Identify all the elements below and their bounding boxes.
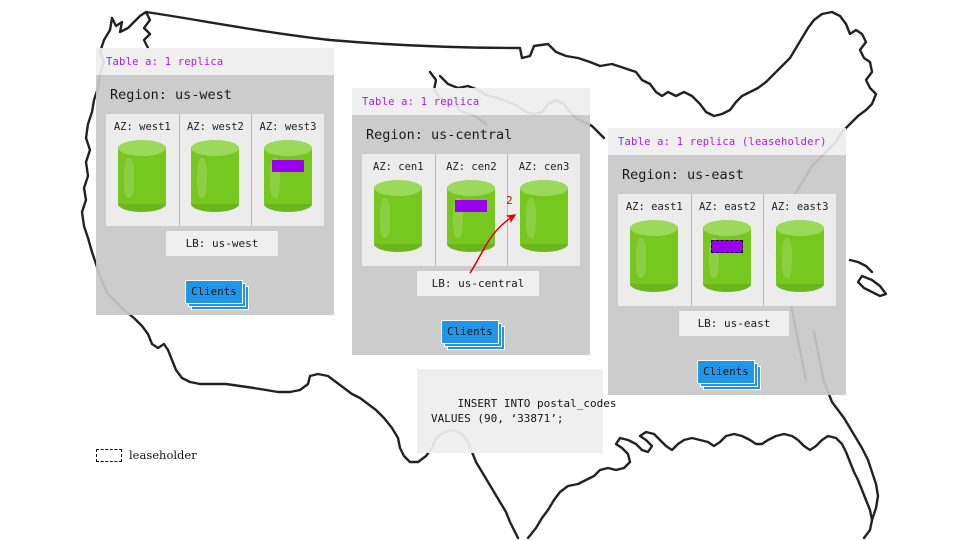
az-label-west1: AZ: west1 — [114, 121, 171, 133]
region-panel-us-central: Table a: 1 replica Region: us-central AZ… — [352, 88, 590, 355]
cylinder-top — [776, 220, 824, 236]
region-body-us-east: Region: us-east AZ: east1 AZ: east2 — [608, 155, 846, 395]
replica-marker-leaseholder-east2[interactable] — [711, 240, 743, 253]
cylinder-top — [118, 140, 166, 156]
region-panel-us-west: Table a: 1 replica Region: us-west AZ: w… — [96, 48, 334, 315]
lb-label-us-east: LB: us-east — [698, 317, 771, 330]
table-replica-header-us-central: Table a: 1 replica — [352, 88, 590, 115]
replica-marker-cen2[interactable] — [455, 200, 487, 212]
diagram-canvas: Table a: 1 replica Region: us-west AZ: w… — [0, 0, 960, 540]
db-node-east1[interactable] — [630, 220, 678, 292]
load-balancer-us-central[interactable]: LB: us-central — [417, 271, 539, 296]
az-cell-west1[interactable]: AZ: west1 — [106, 114, 179, 226]
clients-label-us-central: Clients — [447, 326, 493, 338]
db-node-cen2[interactable] — [447, 180, 495, 252]
az-label-west3: AZ: west3 — [260, 121, 317, 133]
cylinder-shine — [197, 158, 207, 198]
az-cell-west3[interactable]: AZ: west3 — [251, 114, 324, 226]
az-cell-east1[interactable]: AZ: east1 — [618, 194, 691, 306]
clients-stack-layer-1[interactable]: Clients — [185, 280, 243, 304]
az-row-us-west: AZ: west1 AZ: west2 — [106, 114, 324, 226]
az-cell-cen1[interactable]: AZ: cen1 — [362, 154, 435, 266]
sql-statement-box: INSERT INTO postal_codes VALUES (90, ‘33… — [417, 369, 603, 453]
region-title-us-central: Region: us-central — [366, 127, 578, 143]
db-node-east2[interactable] — [703, 220, 751, 292]
clients-label-us-west: Clients — [191, 286, 237, 298]
table-replica-label: Table a: 1 replica — [106, 56, 223, 68]
legend: leaseholder — [96, 448, 197, 462]
load-balancer-us-east[interactable]: LB: us-east — [679, 311, 789, 336]
cylinder-shine — [124, 158, 134, 198]
clients-button-us-west[interactable]: Clients — [185, 280, 245, 306]
db-node-east3[interactable] — [776, 220, 824, 292]
region-panel-us-east: Table a: 1 replica (leaseholder) Region:… — [608, 128, 846, 395]
cylinder-shine — [782, 238, 792, 278]
clients-label-us-east: Clients — [703, 366, 749, 378]
cylinder-shine — [636, 238, 646, 278]
clients-stack-layer-1[interactable]: Clients — [441, 320, 499, 344]
az-row-us-central: AZ: cen1 AZ: cen2 — [362, 154, 580, 266]
db-node-west2[interactable] — [191, 140, 239, 212]
table-replica-header-us-west: Table a: 1 replica — [96, 48, 334, 75]
lb-label-us-west: LB: us-west — [186, 237, 259, 250]
az-label-east3: AZ: east3 — [772, 201, 829, 213]
az-label-cen3: AZ: cen3 — [519, 161, 570, 173]
legend-label: leaseholder — [129, 448, 197, 462]
routing-arrow-label: 2 — [506, 194, 513, 207]
cylinder-top — [374, 180, 422, 196]
az-cell-cen3[interactable]: AZ: cen3 — [507, 154, 580, 266]
az-label-cen2: AZ: cen2 — [446, 161, 497, 173]
az-cell-east2[interactable]: AZ: east2 — [691, 194, 764, 306]
az-label-cen1: AZ: cen1 — [373, 161, 424, 173]
clients-button-us-central[interactable]: Clients — [441, 320, 501, 346]
clients-button-us-east[interactable]: Clients — [697, 360, 757, 386]
lb-label-us-central: LB: us-central — [432, 277, 525, 290]
db-node-west1[interactable] — [118, 140, 166, 212]
db-node-cen1[interactable] — [374, 180, 422, 252]
cylinder-top — [520, 180, 568, 196]
region-title-us-west: Region: us-west — [110, 87, 322, 103]
cylinder-shine — [380, 198, 390, 238]
az-label-east1: AZ: east1 — [626, 201, 683, 213]
replica-marker-west3[interactable] — [272, 160, 304, 172]
table-replica-label: Table a: 1 replica — [362, 96, 479, 108]
sql-statement-text: INSERT INTO postal_codes VALUES (90, ‘33… — [431, 397, 616, 425]
load-balancer-us-west[interactable]: LB: us-west — [166, 231, 278, 256]
region-body-us-west: Region: us-west AZ: west1 AZ: west2 — [96, 75, 334, 315]
routing-arrow-step-number: 2 — [506, 194, 513, 207]
az-cell-cen2[interactable]: AZ: cen2 — [435, 154, 508, 266]
cylinder-top — [630, 220, 678, 236]
region-title-us-east: Region: us-east — [622, 167, 834, 183]
clients-stack-layer-1[interactable]: Clients — [697, 360, 755, 384]
az-cell-west2[interactable]: AZ: west2 — [179, 114, 252, 226]
az-label-west2: AZ: west2 — [187, 121, 244, 133]
az-cell-east3[interactable]: AZ: east3 — [763, 194, 836, 306]
table-replica-header-us-east: Table a: 1 replica (leaseholder) — [608, 128, 846, 155]
table-replica-label: Table a: 1 replica (leaseholder) — [618, 136, 827, 148]
cylinder-top — [264, 140, 312, 156]
region-body-us-central: Region: us-central AZ: cen1 AZ: cen2 — [352, 115, 590, 355]
az-label-east2: AZ: east2 — [699, 201, 756, 213]
db-node-cen3[interactable] — [520, 180, 568, 252]
leaseholder-swatch-icon — [96, 449, 122, 462]
db-node-west3[interactable] — [264, 140, 312, 212]
cylinder-shine — [526, 198, 536, 238]
az-row-us-east: AZ: east1 AZ: east2 — [618, 194, 836, 306]
